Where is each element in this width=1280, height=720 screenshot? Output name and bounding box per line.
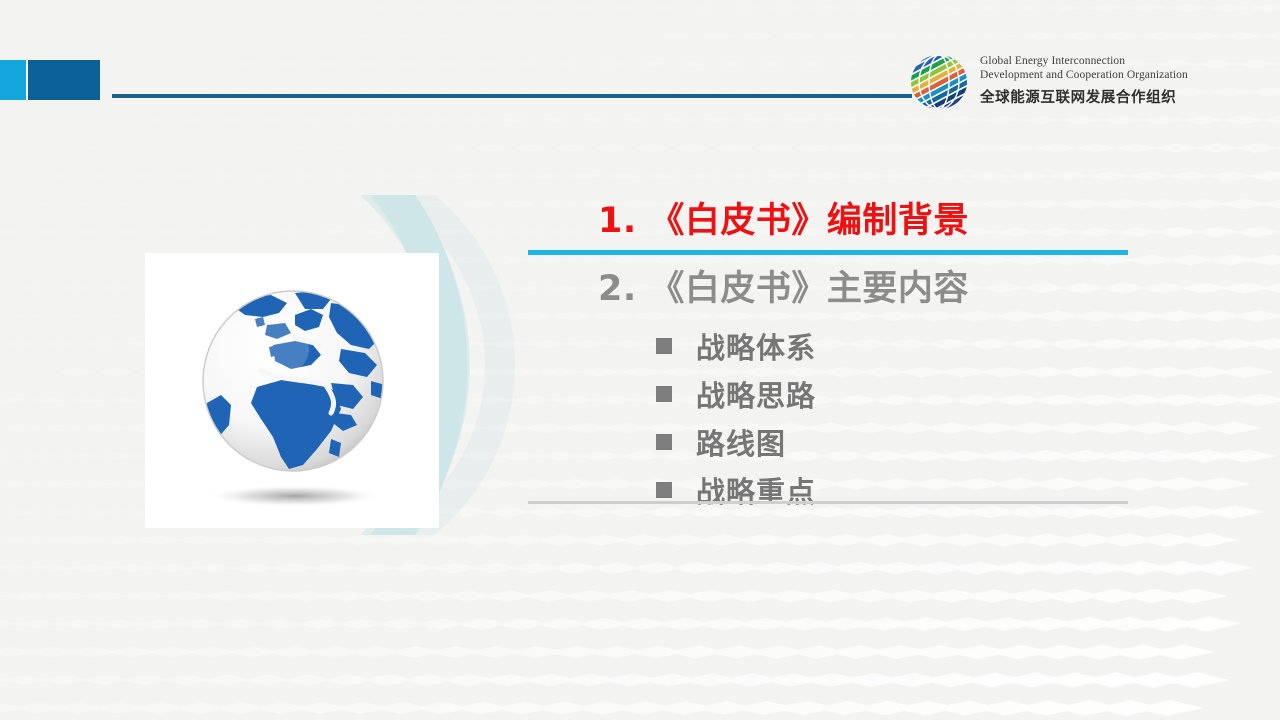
square-bullet-icon (656, 386, 672, 402)
list-item[interactable]: 战略思路 (656, 370, 1168, 418)
organization-logo: Global Energy Interconnection Developmen… (908, 52, 1238, 114)
agenda-bottom-divider (528, 501, 1128, 504)
logo-english-line-1: Global Energy Interconnection (980, 54, 1236, 68)
agenda-active-underline (528, 250, 1128, 255)
globe-stripes-logo-icon (908, 53, 970, 111)
agenda-sub-items: 战略体系 战略思路 路线图 战略重点 (528, 322, 1168, 514)
list-item[interactable]: 战略体系 (656, 322, 1168, 370)
square-bullet-icon (656, 338, 672, 354)
agenda-item-1-text: 1. 《白皮书》编制背景 (528, 201, 969, 241)
agenda-item-2[interactable]: 2. 《白皮书》主要内容 (528, 264, 1168, 314)
list-item-label: 战略重点 (696, 469, 816, 511)
agenda-item-1[interactable]: 1. 《白皮书》编制背景 (528, 196, 1168, 246)
header-accent-square-cyan (0, 60, 26, 100)
list-item-label: 战略思路 (696, 373, 816, 415)
square-bullet-icon (656, 482, 672, 498)
list-item-label: 战略体系 (696, 325, 816, 367)
header-accent-square-blue (28, 60, 100, 100)
list-item[interactable]: 战略重点 (656, 466, 1168, 514)
presentation-slide: Global Energy Interconnection Developmen… (0, 0, 1280, 720)
logo-chinese-name: 全球能源互联网发展合作组织 (980, 86, 1236, 107)
logo-text-block: Global Energy Interconnection Developmen… (980, 54, 1236, 107)
list-item-label: 路线图 (696, 421, 786, 463)
logo-english-line-2: Development and Cooperation Organization (980, 68, 1236, 82)
list-item[interactable]: 路线图 (656, 418, 1168, 466)
globe-image (145, 253, 439, 528)
globe-illustration-card (145, 253, 439, 528)
square-bullet-icon (656, 434, 672, 450)
agenda-list: 1. 《白皮书》编制背景 2. 《白皮书》主要内容 战略体系 战略思路 路线图 … (528, 196, 1168, 514)
header-rule (112, 94, 912, 98)
